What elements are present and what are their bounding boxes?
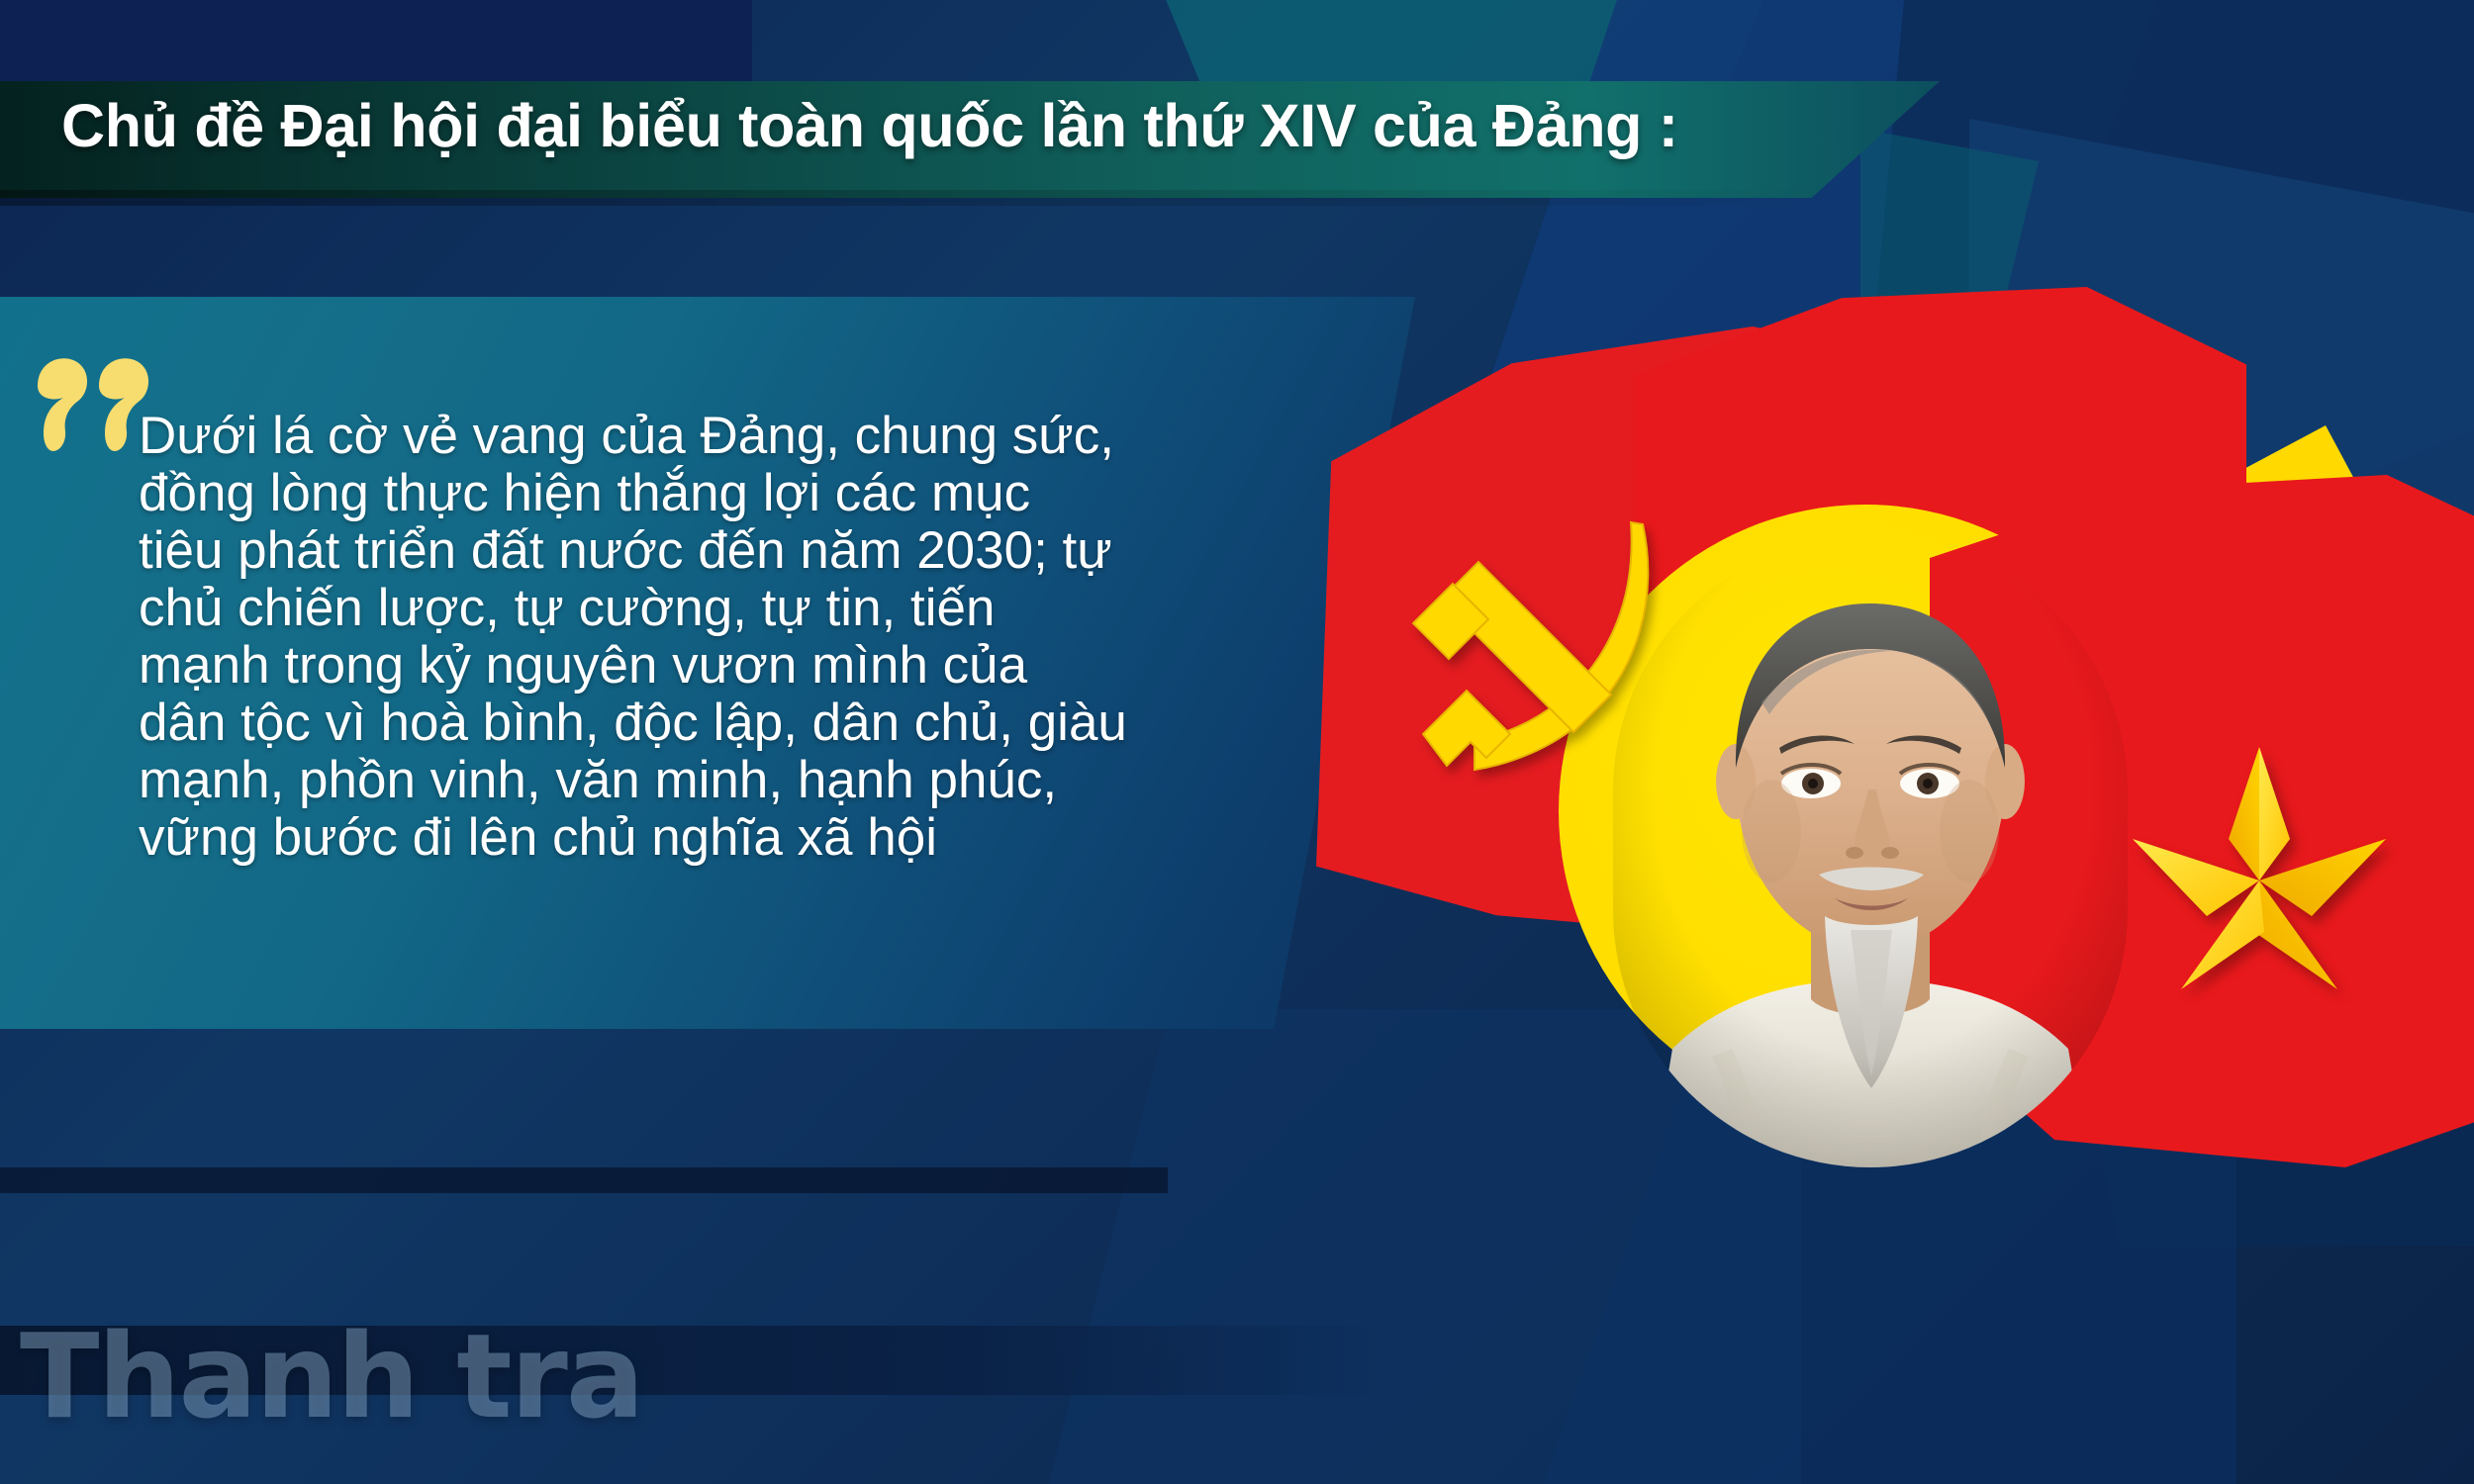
bg-divider-band — [0, 1167, 1168, 1193]
quote-line: tiêu phát triển đất nước đến năm 2030; t… — [139, 522, 1306, 580]
quote-line: mạnh, phồn vinh, văn minh, hạnh phúc, — [139, 752, 1306, 809]
quote-line: vững bước đi lên chủ nghĩa xã hội — [139, 809, 1306, 867]
gold-star-icon — [2116, 732, 2403, 1019]
quote-line: Dưới lá cờ vẻ vang của Đảng, chung sức, — [139, 408, 1306, 465]
quote-line: chủ chiến lược, tự cường, tự tin, tiến — [139, 580, 1306, 637]
infographic-canvas: Chủ đề Đại hội đại biểu toàn quốc lần th… — [0, 0, 2474, 1484]
quote-line: mạnh trong kỷ nguyên vươn mình của — [139, 637, 1306, 695]
ho-chi-minh-portrait — [1613, 534, 2128, 1167]
watermark: Thanh tra — [20, 1308, 642, 1444]
page-title: Chủ đề Đại hội đại biểu toàn quốc lần th… — [61, 91, 1678, 160]
quote-line: đồng lòng thực hiện thắng lợi các mục — [139, 465, 1306, 522]
quote-text: Dưới lá cờ vẻ vang của Đảng, chung sức, … — [139, 408, 1306, 867]
quote-line: dân tộc vì hoà bình, độc lập, dân chủ, g… — [139, 695, 1306, 752]
flag-portrait-graphic — [1316, 178, 2474, 1286]
